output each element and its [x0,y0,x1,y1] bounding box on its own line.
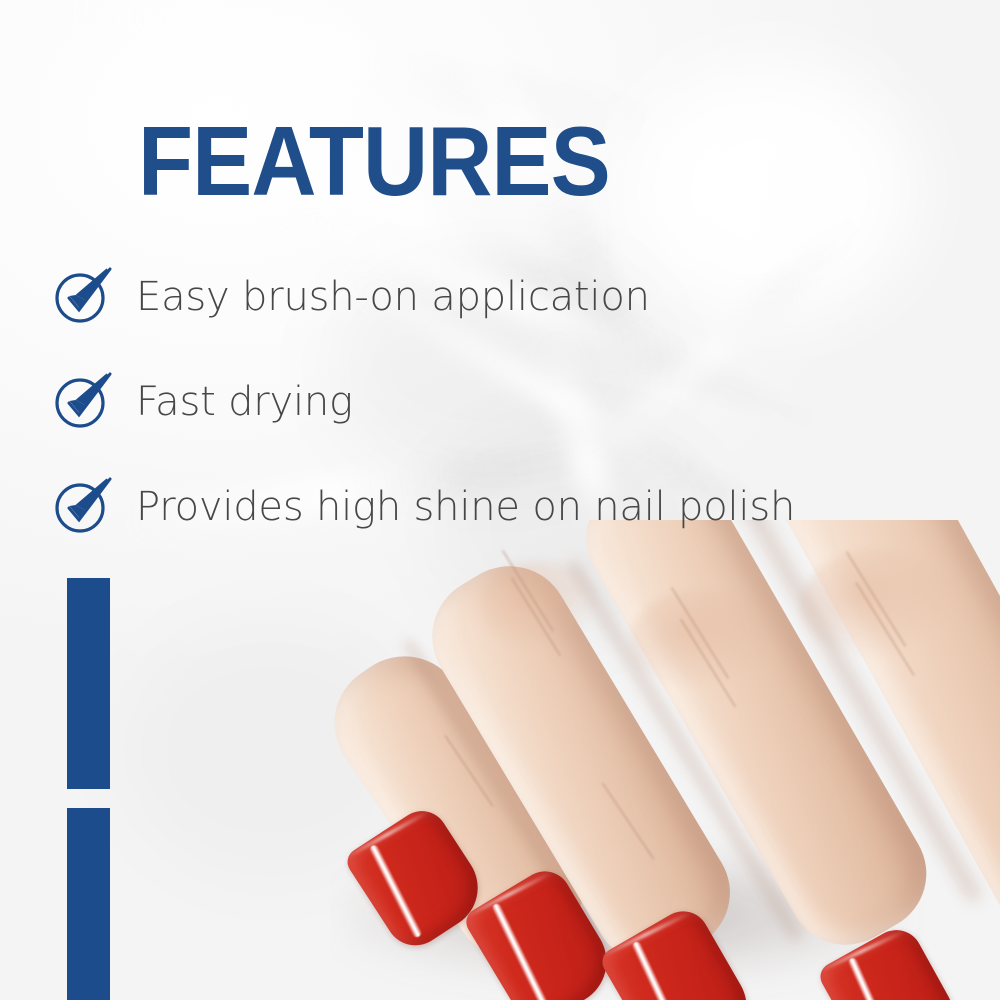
features-list: Easy brush-on application Fast drying Pr… [52,244,932,559]
check-circle-icon [52,369,114,431]
page-title: FEATURES [138,112,610,210]
nail-gloss-highlight [847,957,901,1000]
feature-item: Provides high shine on nail polish [52,454,932,559]
nail-gloss-highlight [631,940,692,1000]
feature-item: Fast drying [52,349,932,454]
knuckle-shading [630,590,770,690]
check-circle-icon [52,264,114,326]
accent-bar-top [67,578,110,789]
nail-gloss-highlight [491,902,551,1000]
check-circle-icon [52,474,114,536]
accent-bar-bottom [67,808,110,1000]
feature-item: Easy brush-on application [52,244,932,349]
feature-label: Provides high shine on nail polish [136,484,795,530]
features-poster: FEATURES Easy brush-on application Fast … [0,0,1000,1000]
hand-photo [330,520,1000,1000]
feature-label: Fast drying [136,379,353,425]
feature-label: Easy brush-on application [136,274,650,320]
